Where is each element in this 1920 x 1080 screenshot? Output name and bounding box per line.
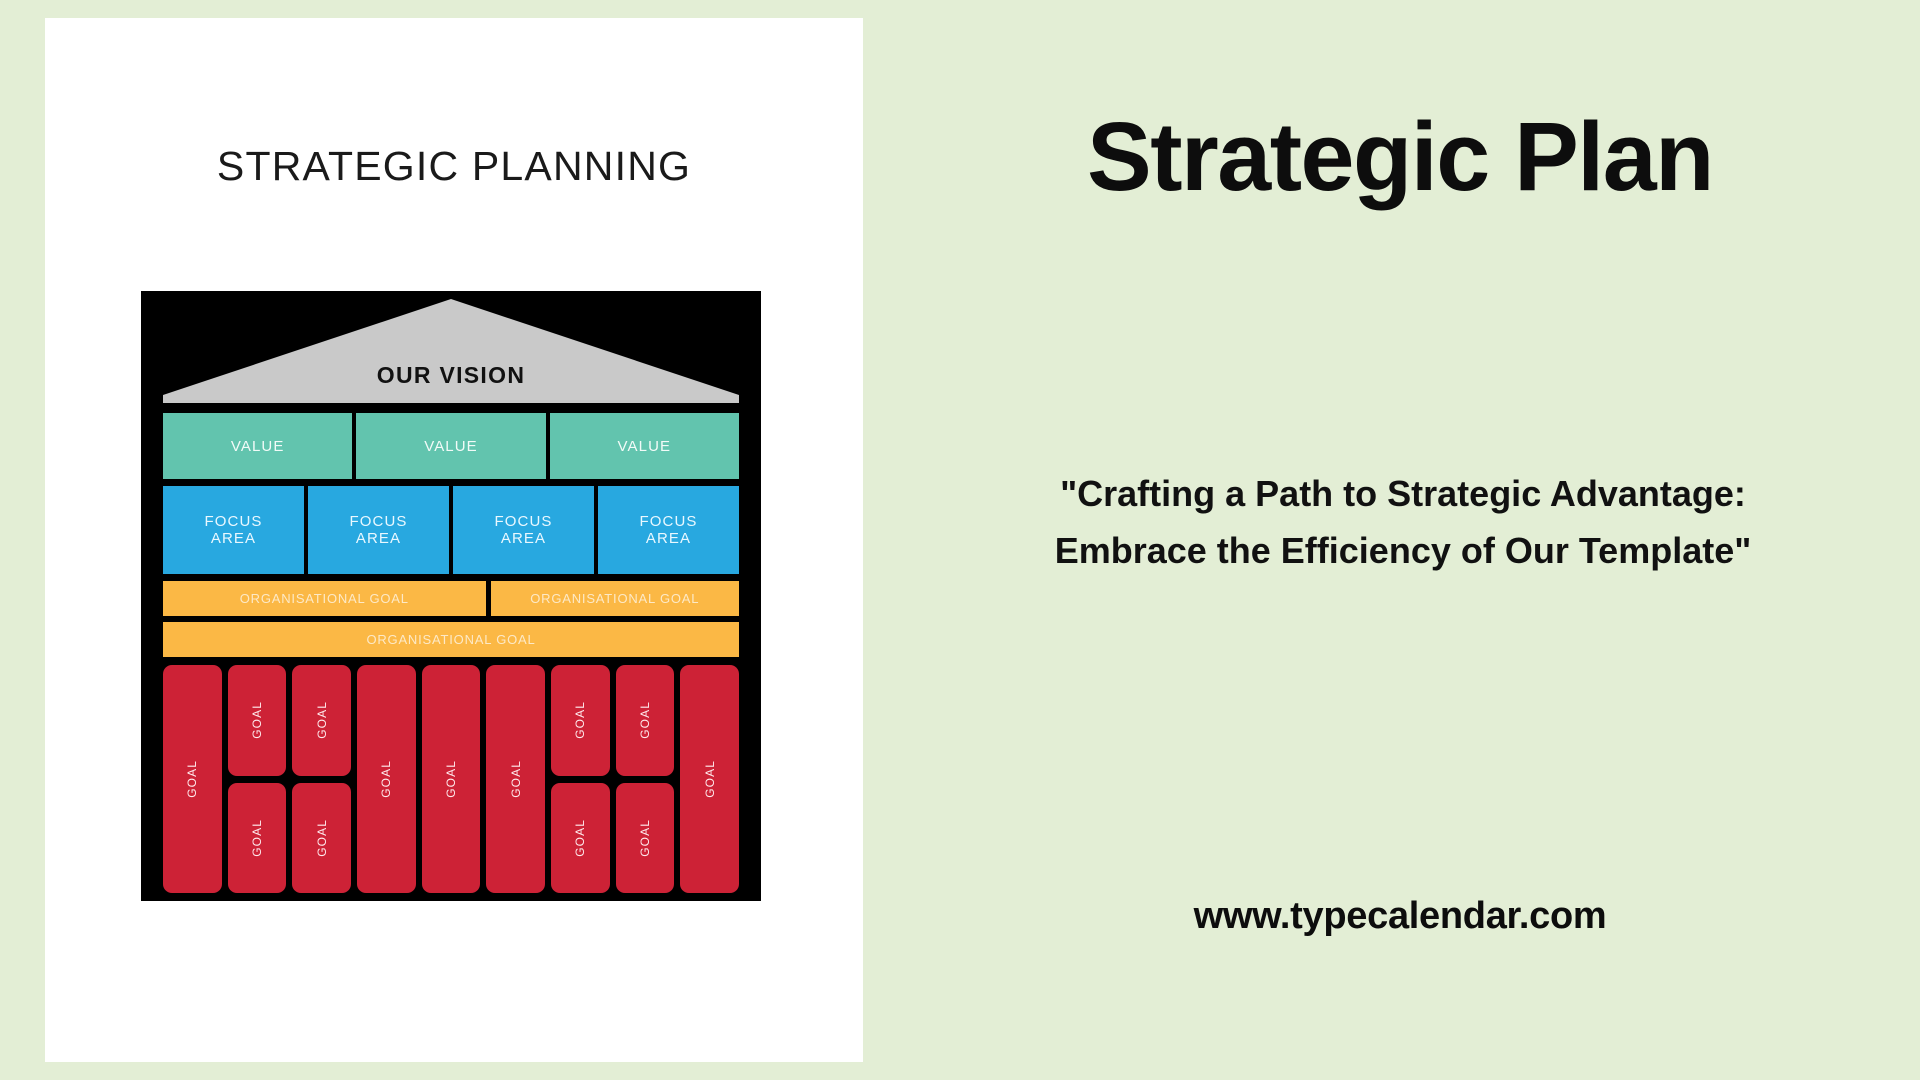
organisational-goal-label: ORGANISATIONAL GOAL xyxy=(240,591,409,606)
goal-block[interactable]: GOAL xyxy=(357,665,416,893)
focus-area-line2: AREA xyxy=(211,530,256,547)
goal-label: GOAL xyxy=(638,819,652,857)
organisational-goal-box[interactable]: ORGANISATIONAL GOAL xyxy=(163,581,486,616)
focus-area-line1: FOCUS xyxy=(640,513,698,530)
organisational-goals-row-2: ORGANISATIONAL GOAL xyxy=(163,622,739,657)
value-box[interactable]: VALUE xyxy=(550,413,739,479)
tagline-quote: "Crafting a Path to Strategic Advantage:… xyxy=(998,466,1808,580)
goal-column: GOAL GOAL xyxy=(616,665,675,893)
goal-label: GOAL xyxy=(509,760,523,798)
goal-block[interactable]: GOAL xyxy=(228,665,287,776)
goal-label: GOAL xyxy=(444,760,458,798)
goal-label: GOAL xyxy=(703,760,717,798)
goal-column: GOAL xyxy=(422,665,481,893)
website-url: www.typecalendar.com xyxy=(880,895,1920,938)
goal-column: GOAL GOAL xyxy=(228,665,287,893)
page-root: STRATEGIC PLANNING OUR VISION VALUE VALU… xyxy=(0,0,1920,1080)
value-label: VALUE xyxy=(231,438,285,455)
goal-block[interactable]: GOAL xyxy=(616,783,675,894)
goal-block[interactable]: GOAL xyxy=(680,665,739,893)
goal-column: GOAL xyxy=(486,665,545,893)
focus-area-line2: AREA xyxy=(501,530,546,547)
goal-label: GOAL xyxy=(250,701,264,739)
goal-label: GOAL xyxy=(379,760,393,798)
focus-area-box[interactable]: FOCUS AREA xyxy=(308,486,449,574)
text-panel: Strategic Plan "Crafting a Path to Strat… xyxy=(880,0,1920,1080)
goal-block[interactable]: GOAL xyxy=(163,665,222,893)
focus-area-box[interactable]: FOCUS AREA xyxy=(453,486,594,574)
focus-area-box[interactable]: FOCUS AREA xyxy=(598,486,739,574)
organisational-goal-label: ORGANISATIONAL GOAL xyxy=(530,591,699,606)
focus-area-box[interactable]: FOCUS AREA xyxy=(163,486,304,574)
goal-label: GOAL xyxy=(573,701,587,739)
goals-row: GOAL GOAL GOAL GOAL GOAL xyxy=(163,665,739,893)
vision-label: OUR VISION xyxy=(163,362,739,389)
goal-block[interactable]: GOAL xyxy=(486,665,545,893)
goal-label: GOAL xyxy=(315,819,329,857)
value-label: VALUE xyxy=(618,438,672,455)
focus-area-line1: FOCUS xyxy=(495,513,553,530)
focus-area-line2: AREA xyxy=(646,530,691,547)
value-box[interactable]: VALUE xyxy=(163,413,352,479)
goal-block[interactable]: GOAL xyxy=(551,783,610,894)
goal-block[interactable]: GOAL xyxy=(292,783,351,894)
goal-block[interactable]: GOAL xyxy=(551,665,610,776)
focus-area-line1: FOCUS xyxy=(205,513,263,530)
focus-area-line2: AREA xyxy=(356,530,401,547)
goal-block[interactable]: GOAL xyxy=(616,665,675,776)
goal-column: GOAL xyxy=(163,665,222,893)
goal-column: GOAL GOAL xyxy=(551,665,610,893)
strategic-planning-diagram: OUR VISION VALUE VALUE VALUE FOCUS AREA xyxy=(141,291,761,901)
page-title: Strategic Plan xyxy=(880,108,1920,205)
goal-block[interactable]: GOAL xyxy=(292,665,351,776)
value-box[interactable]: VALUE xyxy=(356,413,545,479)
goal-block[interactable]: GOAL xyxy=(422,665,481,893)
goal-column: GOAL xyxy=(357,665,416,893)
preview-title: STRATEGIC PLANNING xyxy=(45,143,863,190)
goal-label: GOAL xyxy=(185,760,199,798)
template-preview-card: STRATEGIC PLANNING OUR VISION VALUE VALU… xyxy=(45,18,863,1062)
values-row: VALUE VALUE VALUE xyxy=(163,413,739,479)
focus-area-line1: FOCUS xyxy=(350,513,408,530)
goal-label: GOAL xyxy=(573,819,587,857)
organisational-goals-row-1: ORGANISATIONAL GOAL ORGANISATIONAL GOAL xyxy=(163,581,739,616)
goal-label: GOAL xyxy=(250,819,264,857)
goal-block[interactable]: GOAL xyxy=(228,783,287,894)
focus-areas-row: FOCUS AREA FOCUS AREA FOCUS AREA FOCUS A… xyxy=(163,486,739,574)
goal-label: GOAL xyxy=(638,701,652,739)
value-label: VALUE xyxy=(424,438,478,455)
organisational-goal-box[interactable]: ORGANISATIONAL GOAL xyxy=(491,581,739,616)
goal-column: GOAL xyxy=(680,665,739,893)
goal-label: GOAL xyxy=(315,701,329,739)
organisational-goal-label: ORGANISATIONAL GOAL xyxy=(366,632,535,647)
vision-pediment: OUR VISION xyxy=(163,299,739,403)
goal-column: GOAL GOAL xyxy=(292,665,351,893)
organisational-goal-box[interactable]: ORGANISATIONAL GOAL xyxy=(163,622,739,657)
